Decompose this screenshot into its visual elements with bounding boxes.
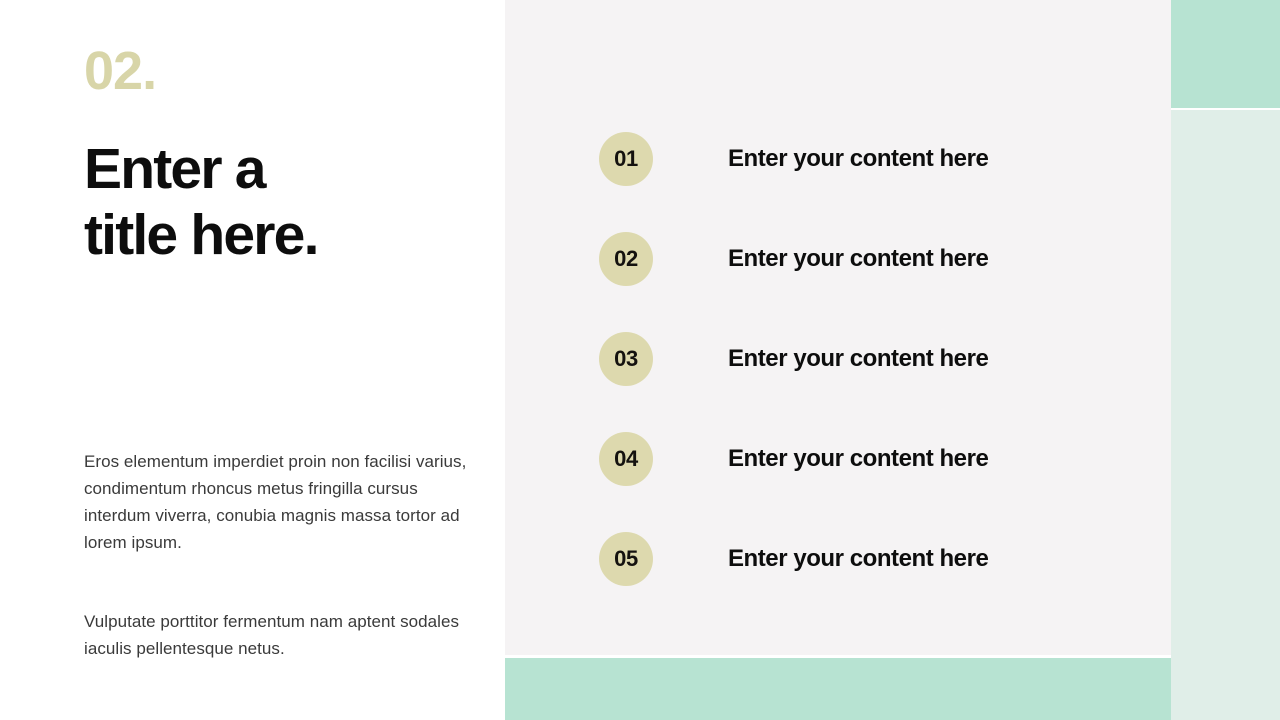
content-panel: 01 Enter your content here 02 Enter your… [505, 0, 1171, 655]
item-label: Enter your content here [728, 345, 988, 373]
item-number-badge: 04 [599, 432, 653, 486]
list-item[interactable]: 01 Enter your content here [599, 132, 1139, 186]
list-item[interactable]: 04 Enter your content here [599, 432, 1139, 486]
numbered-item-list: 01 Enter your content here 02 Enter your… [599, 132, 1139, 586]
decorative-mint-bar-bottom [505, 658, 1171, 720]
item-number-badge: 01 [599, 132, 653, 186]
decorative-mint-block-top [1171, 0, 1280, 108]
item-number-badge: 05 [599, 532, 653, 586]
item-label: Enter your content here [728, 445, 988, 473]
item-number-badge: 03 [599, 332, 653, 386]
item-number-badge: 02 [599, 232, 653, 286]
page-title: Enter a title here. [84, 136, 318, 268]
item-label: Enter your content here [728, 145, 988, 173]
item-label: Enter your content here [728, 545, 988, 573]
list-item[interactable]: 03 Enter your content here [599, 332, 1139, 386]
section-number: 02. [84, 44, 156, 98]
list-item[interactable]: 02 Enter your content here [599, 232, 1139, 286]
body-paragraph-1: Eros elementum imperdiet proin non facil… [84, 448, 476, 556]
left-column: 02. Enter a title here. Eros elementum i… [0, 0, 505, 720]
slide-canvas: 02. Enter a title here. Eros elementum i… [0, 0, 1280, 720]
decorative-mint-panel-right [1171, 110, 1280, 720]
item-label: Enter your content here [728, 245, 988, 273]
body-paragraph-2: Vulputate porttitor fermentum nam aptent… [84, 608, 476, 662]
list-item[interactable]: 05 Enter your content here [599, 532, 1139, 586]
